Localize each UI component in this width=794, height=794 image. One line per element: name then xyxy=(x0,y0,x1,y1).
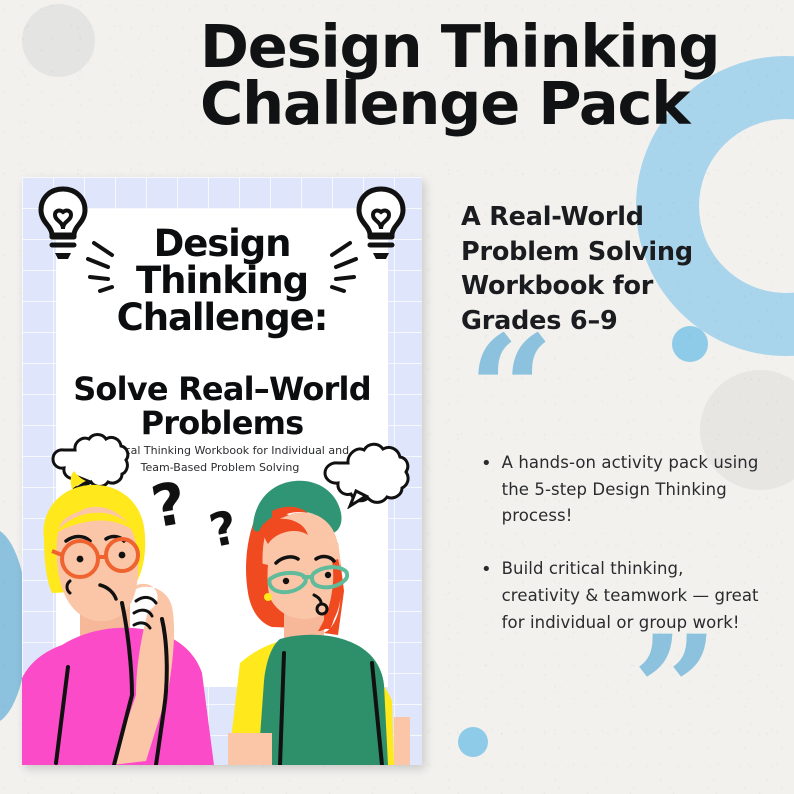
list-item: • A hands-on activity pack using the 5-s… xyxy=(481,450,761,530)
page-subtitle-line-1: A Real-World xyxy=(461,200,751,235)
listing-image-canvas: “ ” Design Thinking Challenge Pack A Rea… xyxy=(0,0,794,794)
bullet-marker-icon: • xyxy=(481,450,492,530)
bullet-text: A hands-on activity pack using the 5-ste… xyxy=(502,450,761,530)
character-right xyxy=(228,481,410,765)
bullet-marker-icon: • xyxy=(481,556,492,636)
character-left xyxy=(22,471,214,765)
page-subtitle: A Real-World Problem Solving Workbook fo… xyxy=(461,200,751,339)
page-subtitle-line-4: Grades 6–9 xyxy=(461,304,751,339)
book-title-line-1: Design xyxy=(60,225,384,262)
characters-illustration xyxy=(22,467,422,765)
feature-bullet-list: • A hands-on activity pack using the 5-s… xyxy=(481,450,761,662)
book-cover-mockup: Design Thinking Challenge: Solve Real–Wo… xyxy=(22,177,422,765)
book-subtitle-line-1: Solve Real–World xyxy=(60,373,384,407)
page-subtitle-line-2: Problem Solving xyxy=(461,235,751,270)
bullet-text: Build critical thinking, creativity & te… xyxy=(502,556,761,636)
page-title-line-2: Challenge Pack xyxy=(200,75,740,132)
decorative-dot-center xyxy=(458,727,488,757)
book-title-line-2: Thinking xyxy=(60,262,384,299)
book-cover-title: Design Thinking Challenge: xyxy=(60,225,384,336)
decorative-circle-top-left xyxy=(22,4,95,77)
page-subtitle-line-3: Workbook for xyxy=(461,269,751,304)
book-title-line-3: Challenge: xyxy=(60,299,384,336)
page-title: Design Thinking Challenge Pack xyxy=(200,18,740,132)
list-item: • Build critical thinking, creativity & … xyxy=(481,556,761,636)
